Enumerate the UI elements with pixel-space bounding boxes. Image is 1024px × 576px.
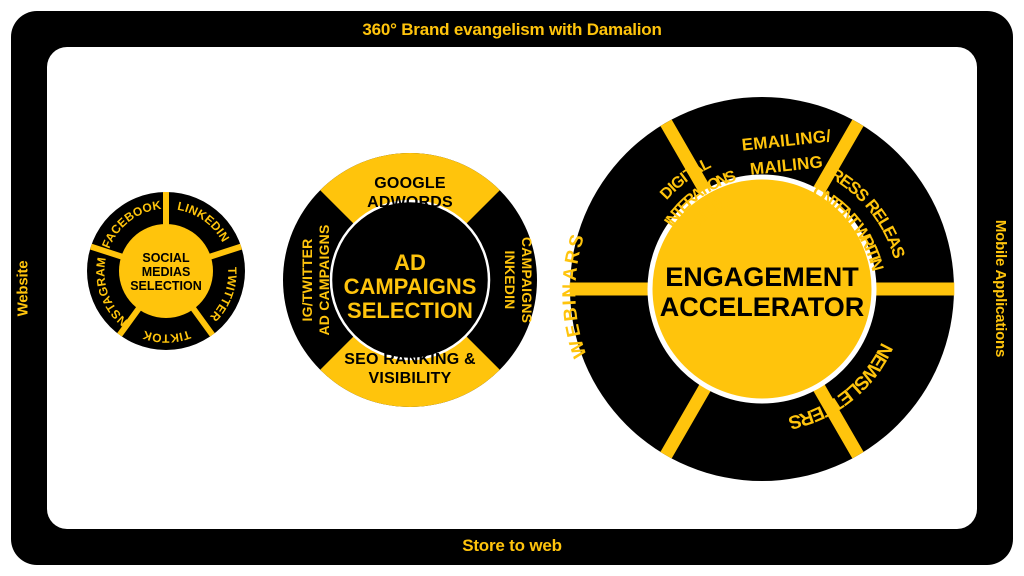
wheel3-center-line2: ACCELERATOR bbox=[660, 292, 865, 322]
wheel1-center-line1: SOCIAL bbox=[142, 251, 190, 265]
wheel3-center-line1: ENGAGEMENT bbox=[665, 262, 859, 292]
right-label-mobile-applications: Mobile Applications bbox=[978, 0, 1024, 576]
left-label-website: Website bbox=[0, 0, 46, 576]
page-title: 360° Brand evangelism with Damalion bbox=[0, 20, 1024, 40]
wheel2-segment-seo-line2: VISIBILITY bbox=[369, 370, 452, 387]
wheel2-segment-seo-line1: SEO RANKING & bbox=[344, 351, 476, 368]
wheel-engagement-accelerator: ENGAGEMENT ACCELERATOR EMAILING/ MAILING… bbox=[569, 96, 955, 482]
bottom-label-store-to-web: Store to web bbox=[0, 536, 1024, 556]
wheel2-center-line2: CAMPAIGNS bbox=[344, 274, 477, 299]
right-label-text: Mobile Applications bbox=[993, 219, 1010, 356]
wheel2-center-line1: AD bbox=[394, 250, 426, 275]
wheel2-segment-igtw-line2: AD CAMPAIGNS bbox=[316, 224, 332, 335]
wheel2-segment-google-line2: ADWORDS bbox=[367, 194, 453, 211]
wheel3-center-label: ENGAGEMENT ACCELERATOR bbox=[660, 262, 865, 322]
wheel1-center-line3: SELECTION bbox=[130, 279, 202, 293]
wheel1-center-line2: MEDIAS bbox=[142, 265, 191, 279]
wheel2-segment-inkedin-line1: INKEDIN bbox=[502, 251, 518, 310]
wheel2-center-line3: SELECTION bbox=[347, 298, 473, 323]
left-label-text: Website bbox=[15, 260, 32, 316]
wheel2-segment-google-line1: GOOGLE bbox=[374, 175, 446, 192]
wheel2-segment-ig-twitter[interactable]: IG/TWITTER AD CAMPAIGNS bbox=[299, 224, 332, 335]
infographic-canvas: 360° Brand evangelism with Damalion Stor… bbox=[0, 0, 1024, 576]
wheel-social-medias-selection: FACEBOOK LINKEDIN TWITTER TIKTOK INSTAGR… bbox=[86, 191, 246, 351]
wheel2-segment-igtw-line1: IG/TWITTER bbox=[299, 239, 315, 322]
wheel2-segment-inkedin-line2: CAMPAIGNS bbox=[519, 237, 535, 323]
wheel-ad-campaigns-selection: AD CAMPAIGNS SELECTION GOOGLE ADWORDS SE… bbox=[282, 152, 538, 408]
